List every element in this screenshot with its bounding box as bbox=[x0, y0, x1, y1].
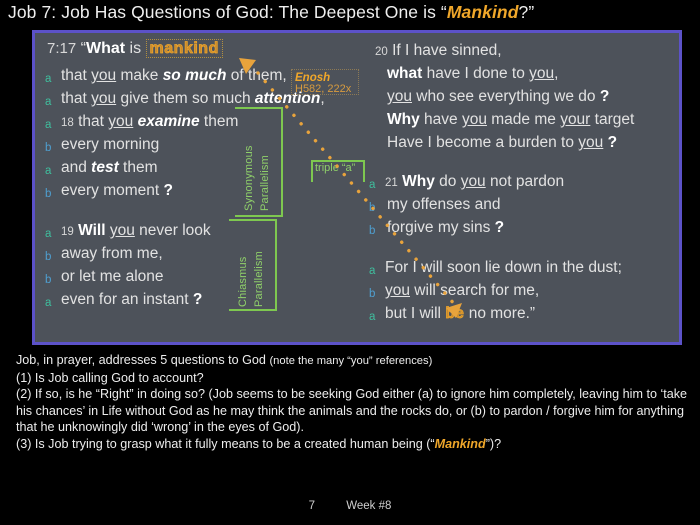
marker-a-10: a bbox=[45, 294, 51, 310]
line-text: “What is bbox=[81, 40, 146, 57]
line-text-6: every moment ? bbox=[61, 183, 173, 199]
r-marker-b-9: b bbox=[369, 285, 375, 301]
triple-a-label: triple “a” bbox=[315, 162, 355, 174]
marker-b-4: b bbox=[45, 139, 51, 155]
marker-b-6: b bbox=[45, 185, 51, 201]
marker-b-8: b bbox=[45, 248, 51, 264]
notes-q3-highlight: Mankind bbox=[435, 437, 486, 451]
r-line-10: but I will be no more.” bbox=[385, 306, 535, 322]
scripture-panel: 7:17 “What is mankind a that you make so… bbox=[32, 30, 682, 345]
notes-q3-after: ”)? bbox=[486, 437, 501, 451]
r-marker-a-8: a bbox=[369, 262, 375, 278]
marker-a-1: a bbox=[45, 70, 51, 86]
highlight-word-mankind: mankind bbox=[146, 39, 223, 58]
notes-block: Job, in prayer, addresses 5 questions to… bbox=[16, 352, 688, 453]
notes-q3-before: (3) Is Job trying to grasp what it fully… bbox=[16, 437, 435, 451]
notes-q3: (3) Is Job trying to grasp what it fully… bbox=[16, 436, 688, 453]
enosh-annotation: Enosh H582, 222x bbox=[295, 72, 351, 96]
page-number: 7 bbox=[309, 500, 315, 512]
synonymous-label-line1: Synonymous bbox=[243, 113, 255, 211]
title-prefix: Job 7: Job Has Questions of God: The Dee… bbox=[8, 2, 447, 22]
line-text-9: or let me alone bbox=[61, 269, 164, 285]
line-text-7: 19 Will you never look bbox=[61, 223, 211, 239]
highlight-word-be: be bbox=[445, 305, 464, 322]
line-text-10: even for an instant ? bbox=[61, 292, 202, 308]
notes-q1: (1) Is Job calling God to account? bbox=[16, 370, 688, 387]
marker-a-5: a bbox=[45, 162, 51, 178]
r-line-3: Why have you made me your target bbox=[387, 112, 634, 128]
marker-b-9: b bbox=[45, 271, 51, 287]
line-text-3: 18 that you examine them bbox=[61, 114, 238, 130]
r-line-9: you will search for me, bbox=[385, 283, 539, 299]
r-marker-a-5: a bbox=[369, 176, 375, 192]
slide: Job 7: Job Has Questions of God: The Dee… bbox=[0, 0, 700, 525]
r-marker-b-7: b bbox=[369, 222, 375, 238]
r-line-7: forgive my sins ? bbox=[387, 220, 504, 236]
verse-number: 7:17 bbox=[47, 40, 76, 57]
r-marker-b-6: b bbox=[369, 199, 375, 215]
line-text-8: away from me, bbox=[61, 246, 163, 262]
title-suffix: ?” bbox=[519, 2, 535, 22]
line-text-5: and test them bbox=[61, 160, 158, 176]
week-label: Week #8 bbox=[346, 500, 391, 512]
line-text-1: that you make so much of them, bbox=[61, 68, 287, 84]
notes-q2: (2) If so, is he “Right” in doing so? (J… bbox=[16, 386, 688, 436]
page-title: Job 7: Job Has Questions of God: The Dee… bbox=[8, 2, 698, 26]
notes-intro-paren: (note the many “you” references) bbox=[269, 355, 432, 367]
notes-intro: Job, in prayer, addresses 5 questions to… bbox=[16, 352, 688, 370]
r-line-1: what have I done to you, bbox=[387, 66, 558, 82]
marker-a-2: a bbox=[45, 93, 51, 109]
r-line-0: 20 If I have sinned, bbox=[375, 43, 502, 59]
r-line-8: For I will soon lie down in the dust; bbox=[385, 260, 622, 276]
right-column: 20 If I have sinned, what have I done to… bbox=[365, 35, 681, 343]
footer: 7 Week #8 bbox=[0, 500, 700, 512]
notes-intro-main: Job, in prayer, addresses 5 questions to… bbox=[16, 353, 266, 367]
r-line-4: Have I become a burden to you ? bbox=[387, 135, 617, 151]
title-highlight-mankind: Mankind bbox=[447, 2, 519, 22]
marker-a-7: a bbox=[45, 225, 51, 241]
synonymous-label-line2: Parallelism bbox=[259, 113, 271, 211]
marker-a-3: a bbox=[45, 116, 51, 132]
chiasmus-label-line1: Chiasmus bbox=[237, 225, 249, 307]
enosh-reference: H582, 222x bbox=[295, 84, 351, 96]
line-text-2: that you give them so much attention, bbox=[61, 91, 325, 107]
chiasmus-label-line2: Parallelism bbox=[253, 225, 265, 307]
r-line-5: 21 Why do you not pardon bbox=[385, 174, 564, 190]
verse-line-7-17: 7:17 “What is mankind bbox=[47, 41, 223, 57]
line-text-4: every morning bbox=[61, 137, 159, 153]
r-line-2: you who see everything we do ? bbox=[387, 89, 609, 105]
r-line-6: my offenses and bbox=[387, 197, 500, 213]
left-column: 7:17 “What is mankind a that you make so… bbox=[39, 35, 359, 343]
r-marker-a-10: a bbox=[369, 308, 375, 324]
